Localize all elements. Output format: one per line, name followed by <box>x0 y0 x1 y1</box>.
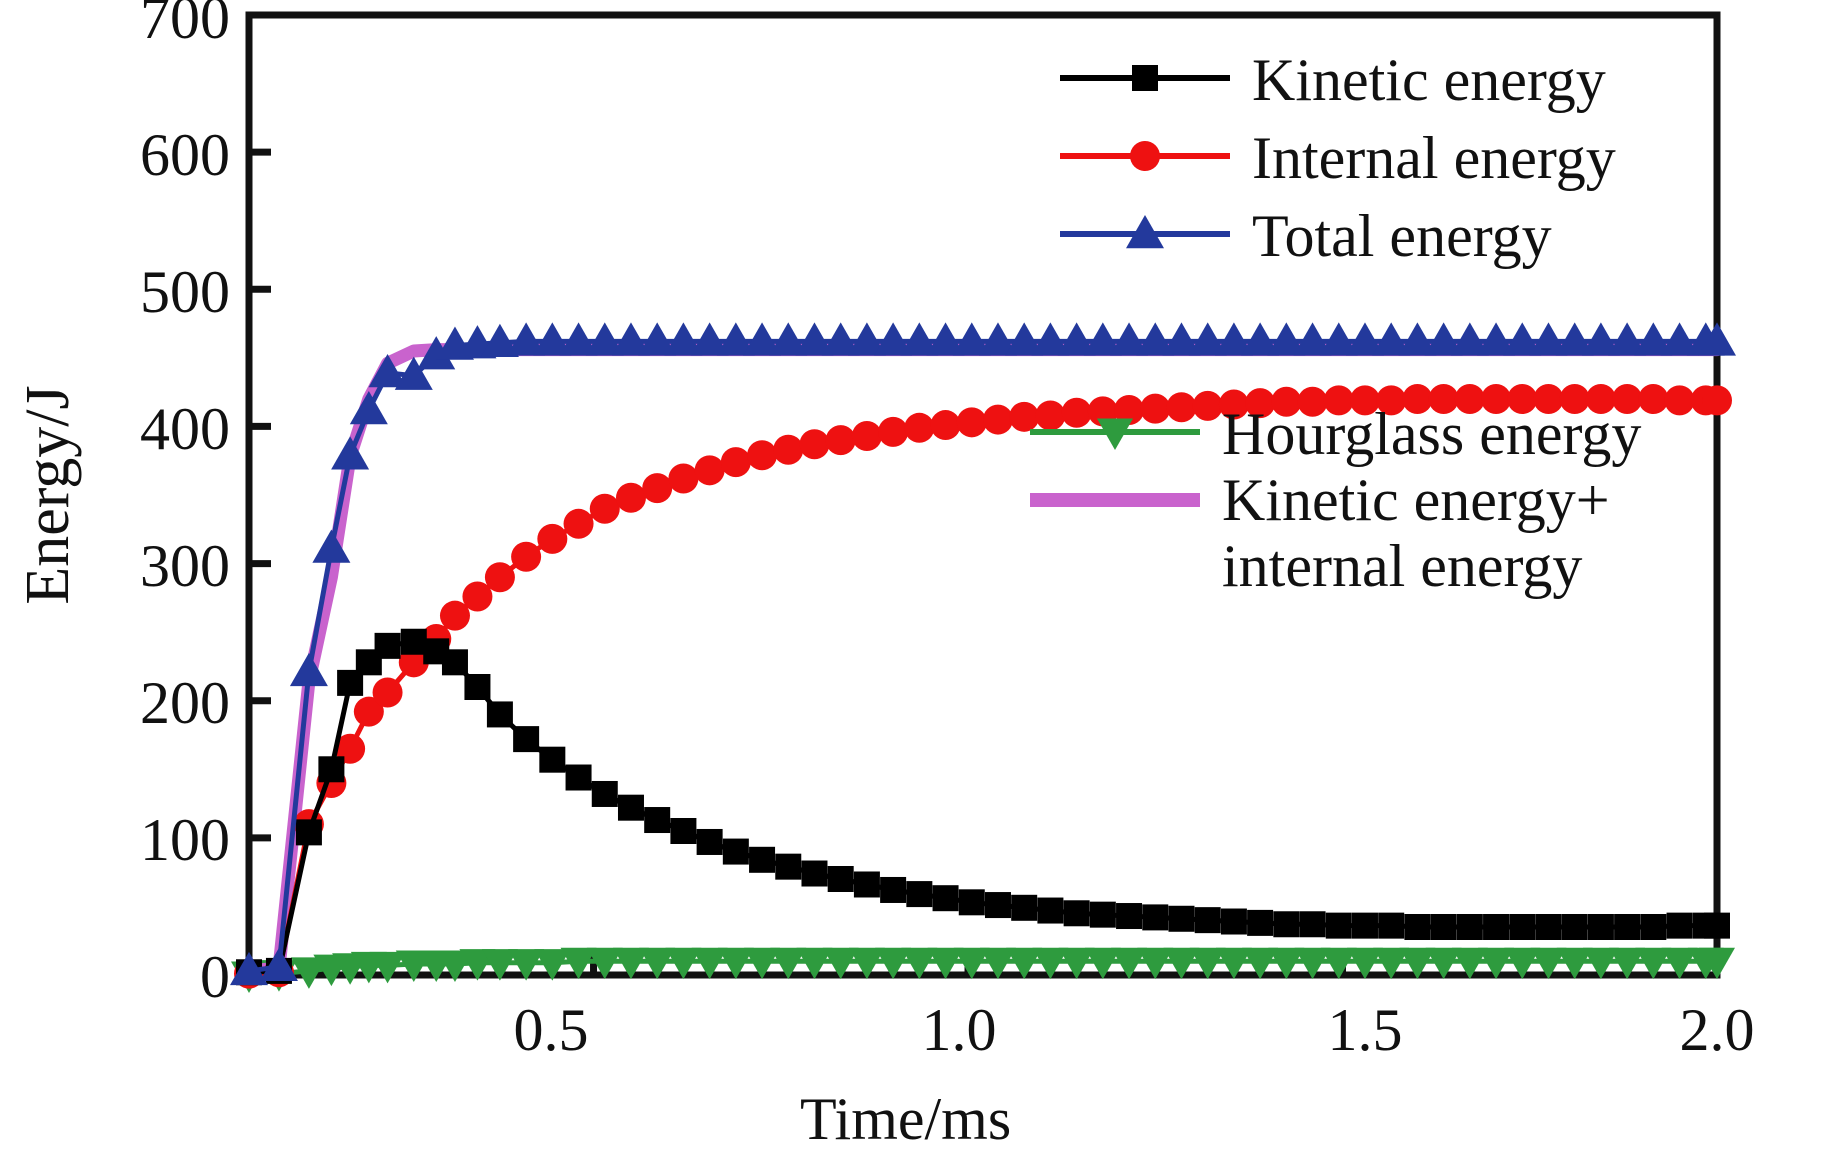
marker-circle <box>1140 394 1170 424</box>
x-tick-label-2-0: 2.0 <box>1657 1000 1777 1060</box>
chart-figure: 700 600 500 400 300 200 100 0 0.5 1.0 1.… <box>0 0 1842 1166</box>
marker-circle <box>826 425 856 455</box>
marker-square <box>296 819 322 845</box>
marker-circle <box>1702 385 1732 415</box>
marker-circle <box>1193 391 1223 421</box>
marker-circle <box>721 447 751 477</box>
series-hourglass-energy <box>231 948 1735 993</box>
marker-triangle-up <box>312 529 350 562</box>
marker-square <box>1704 913 1730 939</box>
y-tick-label-600: 600 <box>40 125 230 185</box>
marker-square <box>775 854 801 880</box>
marker-square <box>801 861 827 887</box>
marker-square <box>1667 913 1693 939</box>
y-tick-label-500: 500 <box>40 262 230 322</box>
marker-square <box>828 866 854 892</box>
marker-triangle-up <box>331 436 369 469</box>
marker-circle <box>1009 402 1039 432</box>
marker-square <box>442 649 468 675</box>
marker-circle <box>852 421 882 451</box>
marker-circle <box>668 464 698 494</box>
y-tick-label-100: 100 <box>40 810 230 870</box>
marker-square <box>1273 911 1299 937</box>
marker-circle <box>1035 400 1065 430</box>
y-tick-label-200: 200 <box>40 673 230 733</box>
marker-circle <box>511 542 541 572</box>
marker-square <box>1300 911 1326 937</box>
marker-square <box>1132 65 1158 91</box>
marker-square <box>1588 914 1614 940</box>
marker-square <box>1064 900 1090 926</box>
marker-square <box>401 629 427 655</box>
y-tick-label-0: 0 <box>40 947 230 1007</box>
x-tick-label-1-5: 1.5 <box>1305 1000 1425 1060</box>
marker-square <box>959 889 985 915</box>
marker-square <box>592 781 618 807</box>
marker-circle <box>747 440 777 470</box>
marker-square <box>1247 910 1273 936</box>
y-tick-label-700: 700 <box>40 0 230 48</box>
marker-square <box>1640 914 1666 940</box>
x-axis-title: Time/ms <box>800 1085 1011 1154</box>
marker-square <box>854 871 880 897</box>
marker-circle <box>1665 385 1695 415</box>
marker-circle <box>616 483 646 513</box>
marker-circle <box>1166 392 1196 422</box>
marker-square <box>513 726 539 752</box>
marker-square <box>487 701 513 727</box>
marker-square <box>1116 903 1142 929</box>
marker-circle <box>957 407 987 437</box>
legend-label-hourglass-energy: Hourglass energy <box>1222 400 1641 468</box>
marker-square <box>1168 906 1194 932</box>
y-axis-title-wrap: Energy/J <box>13 315 83 675</box>
marker-square <box>723 839 749 865</box>
marker-circle <box>564 509 594 539</box>
marker-square <box>906 881 932 907</box>
marker-square <box>697 829 723 855</box>
marker-square <box>1378 913 1404 939</box>
legend-label-internal-energy-cont: internal energy <box>1222 532 1582 600</box>
marker-circle <box>1638 384 1668 414</box>
marker-circle <box>773 435 803 465</box>
marker-square <box>985 892 1011 918</box>
marker-square <box>318 756 344 782</box>
marker-circle <box>642 473 672 503</box>
marker-square <box>1011 895 1037 921</box>
marker-circle <box>878 417 908 447</box>
marker-square <box>1562 914 1588 940</box>
marker-circle <box>590 494 620 524</box>
marker-triangle-up <box>290 653 328 686</box>
marker-square <box>1195 907 1221 933</box>
marker-square <box>566 765 592 791</box>
marker-square <box>1090 902 1116 928</box>
marker-square <box>1404 914 1430 940</box>
marker-square <box>1326 913 1352 939</box>
legend-marker-kinetic-energy[interactable] <box>1060 65 1230 91</box>
marker-circle <box>695 455 725 485</box>
marker-square <box>539 747 565 773</box>
marker-square <box>1221 909 1247 935</box>
marker-circle <box>373 677 403 707</box>
y-axis-title: Energy/J <box>14 385 82 604</box>
legend-label-kinetic-energy: Kinetic energy <box>1252 46 1606 114</box>
marker-circle <box>537 524 567 554</box>
marker-square <box>933 885 959 911</box>
marker-square <box>1352 913 1378 939</box>
legend-marker-internal-energy[interactable] <box>1060 141 1230 171</box>
legend-label-total-energy: Total energy <box>1252 202 1552 270</box>
marker-square <box>375 633 401 659</box>
marker-circle <box>1062 398 1092 428</box>
marker-circle <box>904 413 934 443</box>
marker-square <box>644 807 670 833</box>
marker-square <box>670 818 696 844</box>
marker-square <box>464 674 490 700</box>
marker-square <box>1457 914 1483 940</box>
marker-square <box>1431 914 1457 940</box>
marker-square <box>1614 914 1640 940</box>
marker-circle <box>1130 141 1160 171</box>
marker-circle <box>983 405 1013 435</box>
marker-square <box>1535 914 1561 940</box>
marker-square <box>1142 904 1168 930</box>
marker-square <box>880 877 906 903</box>
marker-circle <box>931 410 961 440</box>
marker-square <box>1509 914 1535 940</box>
marker-circle <box>799 429 829 459</box>
marker-square <box>618 795 644 821</box>
x-tick-label-1-0: 1.0 <box>899 1000 1019 1060</box>
x-tick-label-0-5: 0.5 <box>491 1000 611 1060</box>
marker-square <box>749 847 775 873</box>
marker-square <box>1483 914 1509 940</box>
legend-marker-total-energy[interactable] <box>1060 215 1230 248</box>
legend-label-kinetic-plus: Kinetic energy+ <box>1222 466 1610 534</box>
legend-label-internal-energy: Internal energy <box>1252 124 1616 192</box>
series-kinetic-energy <box>236 629 1730 986</box>
marker-circle <box>485 562 515 592</box>
marker-square <box>1037 898 1063 924</box>
marker-triangle-up <box>350 391 388 424</box>
